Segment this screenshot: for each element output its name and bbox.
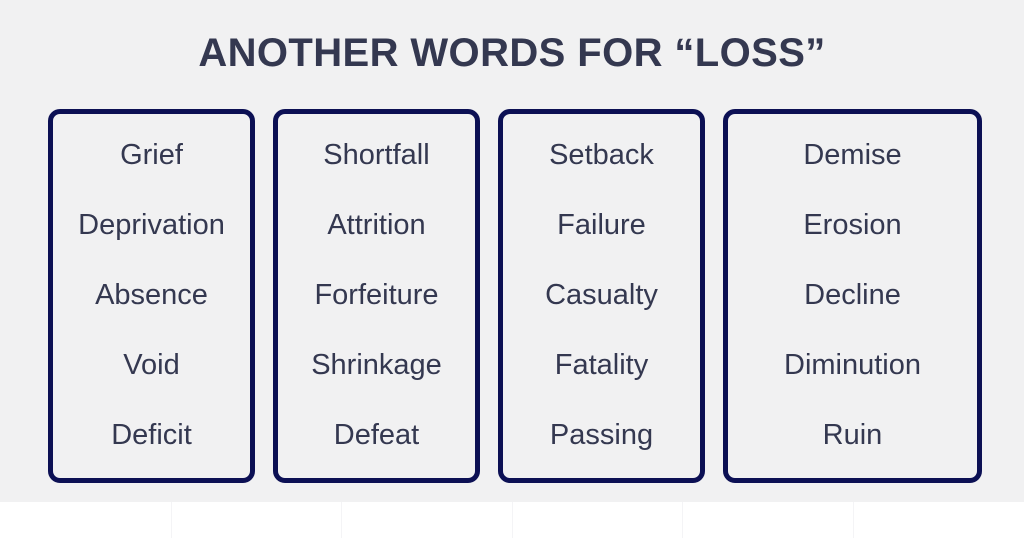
word-item: Grief [59, 138, 244, 172]
bottom-strip [0, 502, 1024, 538]
word-card-2: Shortfall Attrition Forfeiture Shrinkage… [273, 109, 480, 483]
word-list-4: Demise Erosion Decline Diminution Ruin [734, 124, 971, 464]
grid-line [682, 502, 683, 538]
poster-canvas: ANOTHER WORDS FOR “LOSS” Grief Deprivati… [0, 0, 1024, 538]
word-list-1: Grief Deprivation Absence Void Deficit [59, 124, 244, 464]
word-card-1: Grief Deprivation Absence Void Deficit [48, 109, 255, 483]
grid-line [853, 502, 854, 538]
word-item: Ruin [734, 418, 971, 452]
word-card-3: Setback Failure Casualty Fatality Passin… [498, 109, 705, 483]
word-item: Shrinkage [284, 348, 469, 382]
word-card-4: Demise Erosion Decline Diminution Ruin [723, 109, 982, 483]
word-item: Deprivation [59, 208, 244, 242]
word-item: Erosion [734, 208, 971, 242]
word-item: Fatality [509, 348, 694, 382]
word-item: Void [59, 348, 244, 382]
word-item: Passing [509, 418, 694, 452]
word-card-row: Grief Deprivation Absence Void Deficit S… [48, 109, 982, 483]
word-item: Absence [59, 278, 244, 312]
grid-line [171, 502, 172, 538]
word-list-2: Shortfall Attrition Forfeiture Shrinkage… [284, 124, 469, 464]
word-item: Decline [734, 278, 971, 312]
word-item: Demise [734, 138, 971, 172]
grid-line [341, 502, 342, 538]
word-item: Attrition [284, 208, 469, 242]
title-container: ANOTHER WORDS FOR “LOSS” [0, 30, 1024, 76]
word-item: Shortfall [284, 138, 469, 172]
word-item: Failure [509, 208, 694, 242]
word-item: Deficit [59, 418, 244, 452]
page-title: ANOTHER WORDS FOR “LOSS” [198, 30, 825, 76]
word-item: Casualty [509, 278, 694, 312]
word-item: Diminution [734, 348, 971, 382]
grid-line [512, 502, 513, 538]
word-item: Forfeiture [284, 278, 469, 312]
word-item: Defeat [284, 418, 469, 452]
word-item: Setback [509, 138, 694, 172]
word-list-3: Setback Failure Casualty Fatality Passin… [509, 124, 694, 464]
